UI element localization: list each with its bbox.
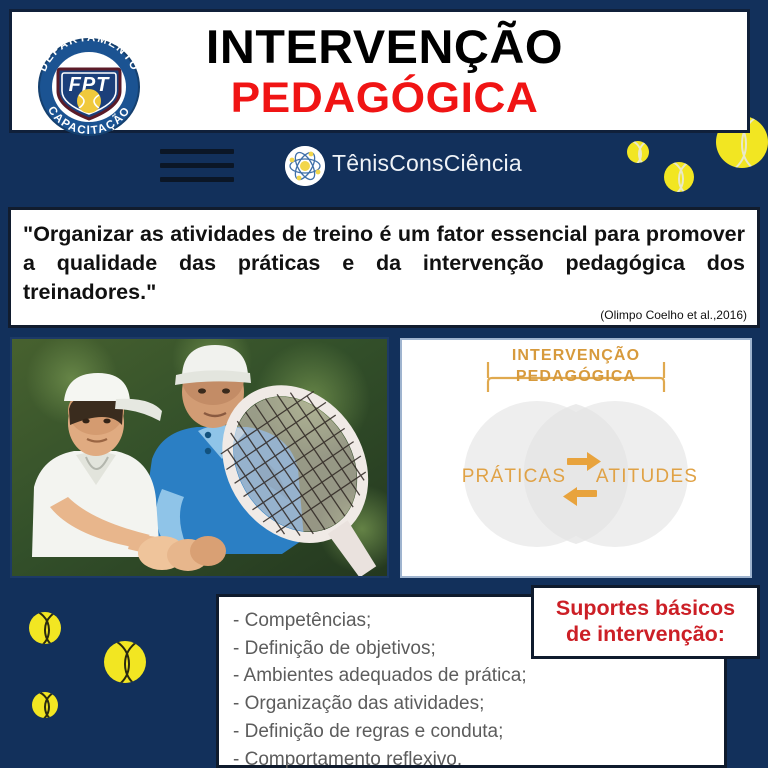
page-title: INTERVENÇÃO <box>11 23 758 70</box>
list-item: - Definição de regras e conduta; <box>233 718 724 746</box>
venn-diagram-card: INTERVENÇÃO PEDAGÓGICA PRÁTICAS ATITUDES <box>400 338 752 578</box>
menu-bar-1-icon <box>160 149 234 154</box>
venn-right-label: ATITUDES <box>596 466 698 487</box>
tennis-ball-icon <box>32 692 58 718</box>
support-title-line1: Suportes básicos <box>556 596 735 620</box>
list-item: - Ambientes adequados de prática; <box>233 662 724 690</box>
tennis-ball-icon <box>104 641 146 683</box>
support-title-line2: de intervenção: <box>566 622 725 646</box>
atom-icon <box>285 146 325 186</box>
page-subtitle: PEDAGÓGICA <box>11 77 758 120</box>
brand-name: TênisConsCiência <box>332 150 522 177</box>
list-item: - Comportamento reflexivo. <box>233 746 724 768</box>
header-banner: DEPARTAMENTO CAPACITAÇÃO FPT INTERVENÇÃO… <box>9 9 750 133</box>
menu-bar-2-icon <box>160 163 234 168</box>
list-item: - Organização das atividades; <box>233 690 724 718</box>
venn-header-line2: PEDAGÓGICA <box>516 366 636 385</box>
tennis-ball-icon <box>664 162 694 192</box>
support-title-card: Suportes básicos de intervenção: <box>531 585 760 659</box>
coach-child-tennis-photo <box>10 337 389 578</box>
tennis-ball-icon <box>29 612 61 644</box>
brand-row: TênisConsCiência <box>160 142 640 192</box>
venn-left-label: PRÁTICAS <box>462 466 567 487</box>
quote-citation: (Olimpo Coelho et al.,2016) <box>600 308 747 322</box>
quote-card: "Organizar as atividades de treino é um … <box>8 207 760 328</box>
support-title: Suportes básicos de intervenção: <box>556 596 735 648</box>
menu-bar-3-icon <box>160 177 234 182</box>
poster-canvas: DEPARTAMENTO CAPACITAÇÃO FPT INTERVENÇÃO… <box>0 0 768 768</box>
venn-header-line1: INTERVENÇÃO <box>512 344 640 364</box>
quote-text: "Organizar as atividades de treino é um … <box>23 220 745 306</box>
